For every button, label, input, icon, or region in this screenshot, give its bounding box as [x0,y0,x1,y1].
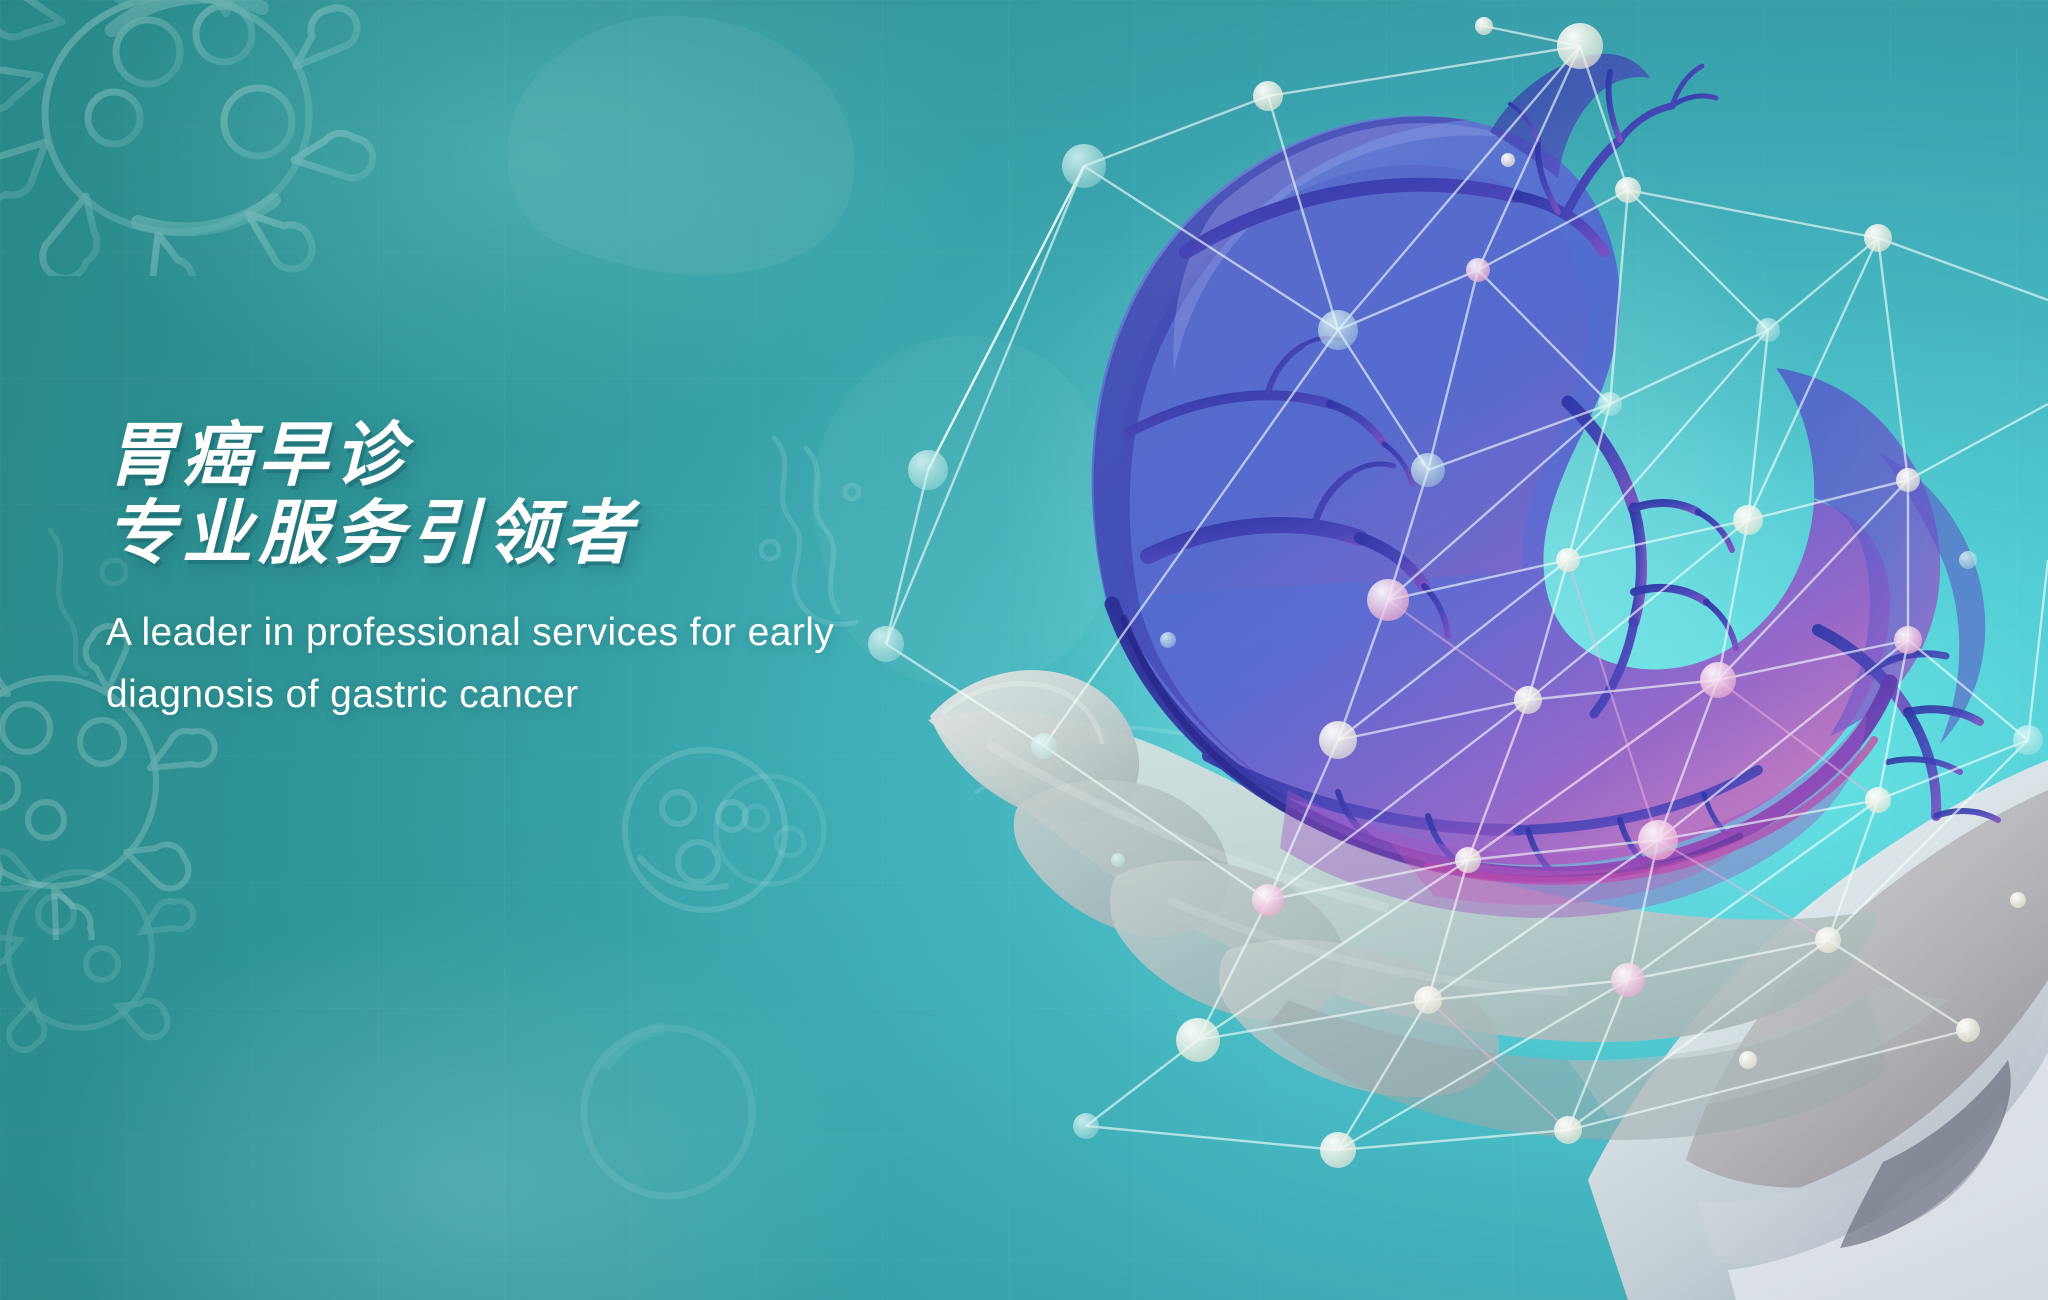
headline-line-2: 专业服务引领者 [106,494,1106,572]
headline-line-1: 胃癌早诊 [106,416,1106,494]
promo-banner: 胃癌早诊 专业服务引领者 A leader in professional se… [0,0,2048,1300]
subtitle-line-2: diagnosis of gastric cancer [106,664,946,726]
banner-copy-block: 胃癌早诊 专业服务引领者 A leader in professional se… [106,416,1106,726]
subtitle-line-1: A leader in professional services for ea… [106,602,946,664]
